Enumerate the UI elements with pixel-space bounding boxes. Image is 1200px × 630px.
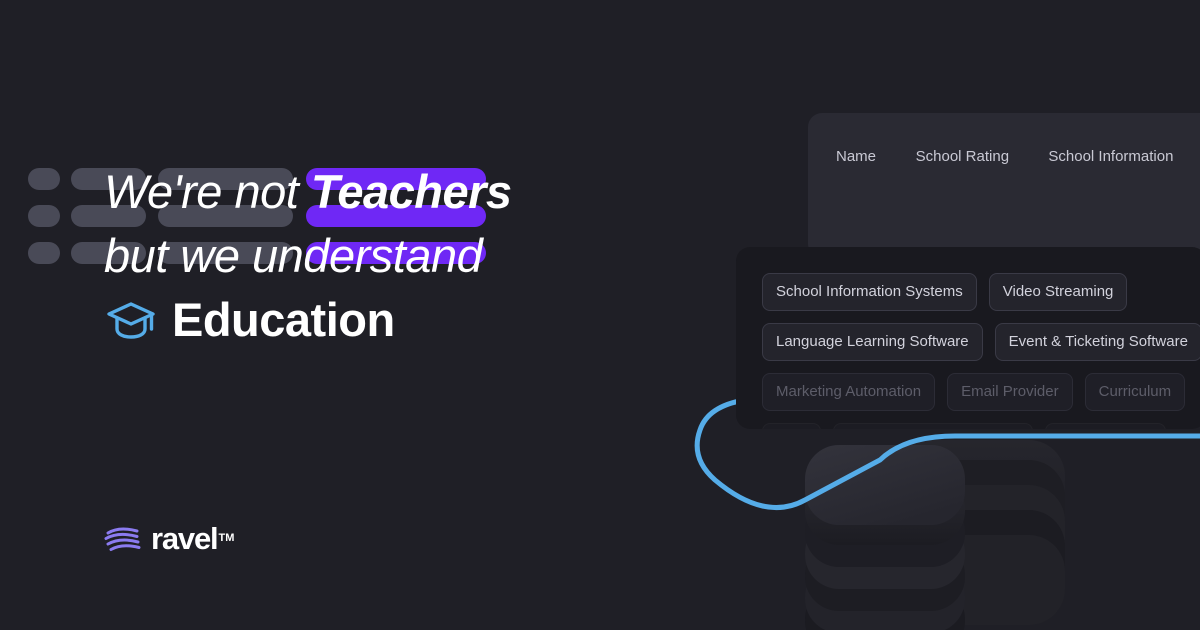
column-header-school-information: School Information [1048, 143, 1200, 171]
chip-school-information-systems[interactable]: School Information Systems [762, 273, 977, 311]
card-stack-front [805, 445, 965, 630]
data-table-panel: Name School Rating School Information [808, 113, 1200, 258]
skeleton-avatar-cell [28, 242, 60, 264]
headline-line-1-light: We're not [104, 165, 311, 218]
trademark-symbol: TM [219, 520, 235, 556]
category-chip-panel: School Information Systems Video Streami… [736, 247, 1200, 429]
graduation-cap-icon [104, 299, 158, 341]
brand-wordmark: ravelTM [151, 521, 217, 557]
chip-curriculum[interactable]: Curriculum [1085, 373, 1186, 411]
skeleton-avatar-cell [28, 205, 60, 227]
chip-email-provider[interactable]: Email Provider [947, 373, 1073, 411]
skeleton-avatar-cell [28, 168, 60, 190]
chip-marketing-automation[interactable]: Marketing Automation [762, 373, 935, 411]
chip-row: Marketing Automation Email Provider Curr… [762, 373, 1200, 411]
headline-block: We're not Teachers but we understand Edu… [104, 160, 704, 352]
blue-connector-curve-icon [697, 400, 1200, 508]
chip-school-rating[interactable]: School Rating [1045, 423, 1166, 429]
brand-logo[interactable]: ravelTM [104, 521, 217, 557]
card-stack-back [885, 440, 1065, 625]
chip-row: School Information Systems Video Streami… [762, 273, 1200, 311]
table-header-row: Name School Rating School Information [808, 143, 1200, 171]
chip-language-learning-software[interactable]: Language Learning Software [762, 323, 983, 361]
headline-line-2: but we understand [104, 224, 704, 288]
chip-video-streaming[interactable]: Video Streaming [989, 273, 1128, 311]
chip-row: LMS Other Education Software School Rati… [762, 423, 1200, 429]
chip-event-ticketing-software[interactable]: Event & Ticketing Software [995, 323, 1200, 361]
ravel-wave-logo-icon [104, 527, 142, 554]
headline-line-1-bold: Teachers [311, 165, 512, 218]
headline-education-word: Education [172, 288, 395, 352]
chip-row: Language Learning Software Event & Ticke… [762, 323, 1200, 361]
column-header-name: Name [808, 143, 916, 171]
headline-line-1: We're not Teachers [104, 160, 704, 224]
column-header-school-rating: School Rating [916, 143, 1049, 171]
chip-lms[interactable]: LMS [762, 423, 821, 429]
brand-name: ravel [151, 521, 217, 556]
headline-line-3: Education [104, 288, 704, 352]
og-banner: Name School Rating School Information [0, 0, 1200, 630]
chip-other-education-software[interactable]: Other Education Software [833, 423, 1033, 429]
